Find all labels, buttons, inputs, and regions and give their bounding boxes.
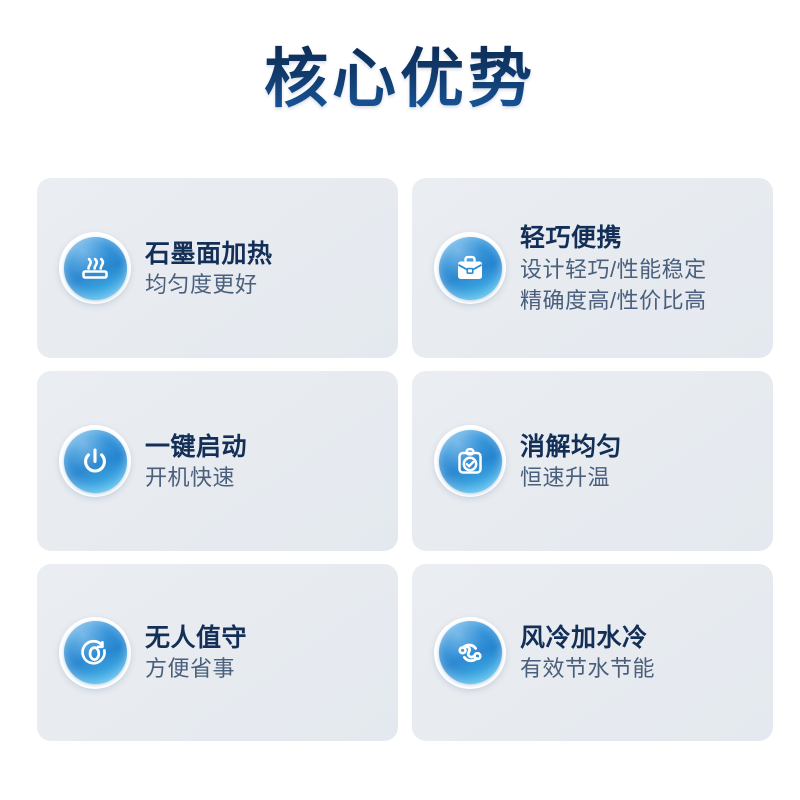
briefcase-icon <box>439 237 502 300</box>
card-subtitle: 均匀度更好 <box>145 270 273 300</box>
card-text-block: 石墨面加热 均匀度更好 <box>145 237 273 300</box>
icon-container <box>434 617 506 689</box>
card-subtitle: 方便省事 <box>145 654 247 684</box>
card-title: 消解均匀 <box>520 431 622 463</box>
feature-card-portable[interactable]: 轻巧便携 设计轻巧/性能稳定 精确度高/性价比高 <box>412 178 773 358</box>
card-subtitle-second: 精确度高/性价比高 <box>520 285 707 316</box>
clipboard-check-icon <box>439 430 502 493</box>
card-subtitle: 有效节水节能 <box>520 654 655 684</box>
card-title: 石墨面加热 <box>145 238 273 270</box>
card-title: 风冷加水冷 <box>520 622 655 654</box>
icon-container <box>434 232 506 304</box>
advantages-page: 核心优势 石墨面加热 均匀度更 <box>0 0 800 800</box>
card-subtitle: 恒速升温 <box>520 463 622 493</box>
icon-container <box>59 232 131 304</box>
feature-cards-grid: 石墨面加热 均匀度更好 轻巧便携 设计轻巧/性能稳定 <box>37 178 763 740</box>
icon-container <box>434 425 506 497</box>
card-text-block: 风冷加水冷 有效节水节能 <box>520 621 655 684</box>
feature-card-one-key-start[interactable]: 一键启动 开机快速 <box>37 371 398 551</box>
page-title: 核心优势 <box>0 42 800 116</box>
card-text-block: 无人值守 方便省事 <box>145 621 247 684</box>
heating-plate-icon <box>64 237 127 300</box>
feature-card-cooling[interactable]: 风冷加水冷 有效节水节能 <box>412 564 773 741</box>
card-title: 无人值守 <box>145 622 247 654</box>
auto-cycle-zero-icon <box>64 621 127 684</box>
card-subtitle: 开机快速 <box>145 463 247 493</box>
card-text-block: 一键启动 开机快速 <box>145 430 247 493</box>
card-subtitle: 设计轻巧/性能稳定 <box>520 254 707 285</box>
icon-container <box>59 425 131 497</box>
feature-card-unattended[interactable]: 无人值守 方便省事 <box>37 564 398 741</box>
icon-container <box>59 617 131 689</box>
card-title: 一键启动 <box>145 431 247 463</box>
card-title: 轻巧便携 <box>520 222 707 254</box>
feature-card-heating[interactable]: 石墨面加热 均匀度更好 <box>37 178 398 358</box>
card-text-block: 消解均匀 恒速升温 <box>520 430 622 493</box>
cooling-flow-icon <box>439 621 502 684</box>
card-text-block: 轻巧便携 设计轻巧/性能稳定 精确度高/性价比高 <box>520 221 707 316</box>
feature-card-uniform-digestion[interactable]: 消解均匀 恒速升温 <box>412 371 773 551</box>
power-button-icon <box>64 430 127 493</box>
